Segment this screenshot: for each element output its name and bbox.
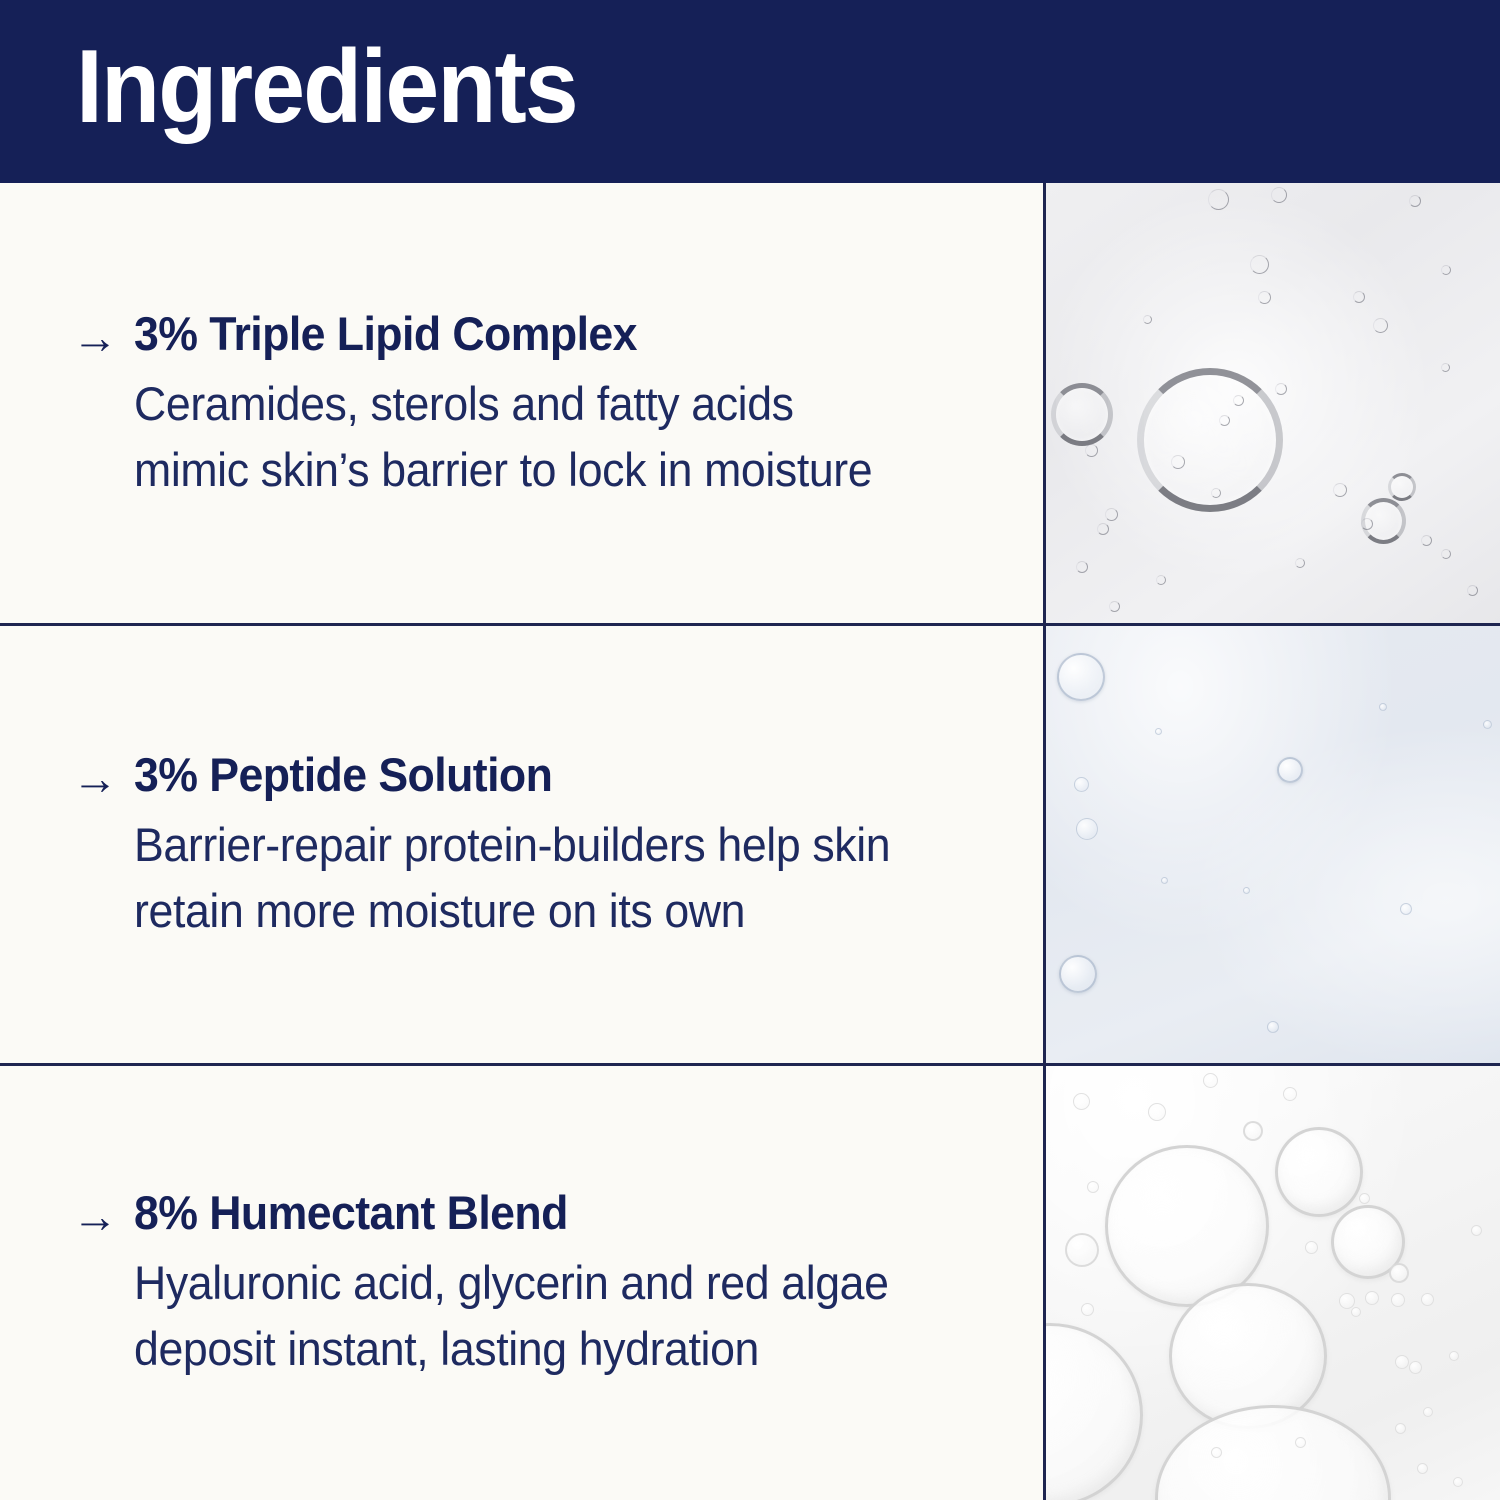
bubble-tiny xyxy=(1453,1477,1463,1487)
bubble-tiny xyxy=(1441,265,1451,275)
bubble-tiny xyxy=(1423,1407,1433,1417)
bubble-tiny xyxy=(1421,535,1432,546)
row-divider-1 xyxy=(0,623,1500,626)
bubble-tiny xyxy=(1219,415,1230,426)
ingredient-body-3: 8% Humectant Blend Hyaluronic acid, glyc… xyxy=(134,1184,1003,1382)
bubble-tiny xyxy=(1161,877,1168,884)
bubble-tiny xyxy=(1391,1293,1405,1307)
bubble-tiny xyxy=(1365,1291,1379,1305)
bubble-medium xyxy=(1059,955,1097,993)
bubble-tiny xyxy=(1211,1447,1222,1458)
bubble-tiny xyxy=(1076,561,1088,573)
bubble-tiny xyxy=(1295,1437,1306,1448)
bubble-tiny xyxy=(1171,455,1185,469)
bubble-tiny xyxy=(1483,720,1492,729)
arrow-right-icon: → xyxy=(72,1186,134,1246)
bubble-tiny xyxy=(1441,363,1450,372)
ingredient-row-3: → 8% Humectant Blend Hyaluronic acid, gl… xyxy=(0,1065,1500,1500)
bubble-small xyxy=(1076,818,1098,840)
bubble-medium xyxy=(1277,757,1303,783)
bubble-tiny xyxy=(1361,518,1373,530)
bubble-tiny xyxy=(1417,1463,1428,1474)
ingredient-title-3: 8% Humectant Blend xyxy=(134,1184,960,1242)
bubble-tiny xyxy=(1073,1093,1090,1110)
bubble-tiny xyxy=(1105,508,1118,521)
ingredient-text-cell-2: → 3% Peptide Solution Barrier-repair pro… xyxy=(0,625,1043,1065)
bubble-tiny xyxy=(1467,585,1478,596)
page-header: Ingredients xyxy=(0,0,1500,183)
bubble-large xyxy=(1043,1323,1143,1500)
bubble-tiny xyxy=(1156,575,1166,585)
bubble-tiny xyxy=(1333,483,1347,497)
bubble-tiny xyxy=(1305,1241,1318,1254)
ingredient-description-2: Barrier-repair protein-builders help ski… xyxy=(134,812,894,944)
bubble-small xyxy=(1388,473,1416,501)
ingredient-title-1: 3% Triple Lipid Complex xyxy=(134,305,960,363)
blue-gel-photo xyxy=(1043,625,1500,1065)
bubble-small xyxy=(1074,777,1089,792)
ingredients-infographic: Ingredients → 3% Triple Lipid Complex Ce… xyxy=(0,0,1500,1500)
bubble-tiny xyxy=(1395,1423,1406,1434)
ingredient-image-2 xyxy=(1043,625,1500,1065)
ingredient-item-1: → 3% Triple Lipid Complex Ceramides, ste… xyxy=(0,305,1043,503)
bubble-small xyxy=(1400,903,1412,915)
bubble-tiny xyxy=(1339,1293,1355,1309)
serum-bubbles-photo xyxy=(1043,183,1500,625)
bubble-medium xyxy=(1051,383,1113,446)
bubble-small xyxy=(1065,1233,1099,1267)
ingredient-row-1: → 3% Triple Lipid Complex Ceramides, ste… xyxy=(0,183,1500,625)
ingredient-item-2: → 3% Peptide Solution Barrier-repair pro… xyxy=(0,746,1043,944)
arrow-right-icon: → xyxy=(72,748,134,808)
bubble-large xyxy=(1137,368,1283,512)
bubble-small xyxy=(1389,1263,1409,1283)
bubble-tiny xyxy=(1081,1303,1094,1316)
ingredient-image-1 xyxy=(1043,183,1500,625)
bubble-tiny xyxy=(1250,255,1269,274)
ingredient-title-2: 3% Peptide Solution xyxy=(134,746,960,804)
column-divider xyxy=(1043,183,1046,1500)
bubble-tiny xyxy=(1087,1181,1099,1193)
bubble-small xyxy=(1243,1121,1263,1141)
bubble-tiny xyxy=(1421,1293,1434,1306)
bubble-tiny xyxy=(1203,1073,1218,1088)
ingredient-image-3 xyxy=(1043,1065,1500,1500)
bubble-tiny xyxy=(1271,187,1287,203)
arrow-right-icon: → xyxy=(72,307,134,367)
ingredient-text-cell-1: → 3% Triple Lipid Complex Ceramides, ste… xyxy=(0,183,1043,625)
bubble-tiny xyxy=(1208,189,1229,210)
ingredient-row-2: → 3% Peptide Solution Barrier-repair pro… xyxy=(0,625,1500,1065)
bubble-tiny xyxy=(1295,558,1305,568)
clear-bubbles-photo xyxy=(1043,1065,1500,1500)
bubble-large xyxy=(1155,1405,1391,1500)
bubble-tiny xyxy=(1085,444,1098,457)
bubble-tiny xyxy=(1373,318,1388,333)
ingredient-item-3: → 8% Humectant Blend Hyaluronic acid, gl… xyxy=(0,1184,1043,1382)
bubble-tiny xyxy=(1233,395,1244,406)
bubble-large xyxy=(1275,1127,1363,1217)
bubble-tiny xyxy=(1143,315,1152,324)
page-title: Ingredients xyxy=(76,23,577,151)
ingredient-description-1: Ceramides, sterols and fatty acids mimic… xyxy=(134,371,894,503)
bubble-tiny xyxy=(1441,549,1451,559)
bubble-tiny xyxy=(1243,887,1250,894)
bubble-tiny xyxy=(1449,1351,1459,1361)
bubble-tiny xyxy=(1109,601,1120,612)
ingredient-body-1: 3% Triple Lipid Complex Ceramides, stero… xyxy=(134,305,1003,503)
bubble-tiny xyxy=(1258,291,1271,304)
bubble-tiny xyxy=(1409,195,1421,207)
bubble-tiny xyxy=(1155,728,1162,735)
ingredient-description-3: Hyaluronic acid, glycerin and red algae … xyxy=(134,1250,894,1382)
ingredient-body-2: 3% Peptide Solution Barrier-repair prote… xyxy=(134,746,1003,944)
bubble-tiny xyxy=(1351,1307,1361,1317)
ingredient-text-cell-3: → 8% Humectant Blend Hyaluronic acid, gl… xyxy=(0,1065,1043,1500)
bubble-small xyxy=(1267,1021,1279,1033)
bubble-tiny xyxy=(1283,1087,1297,1101)
bubble-tiny xyxy=(1148,1103,1166,1121)
bubble-large xyxy=(1057,653,1105,701)
bubble-tiny xyxy=(1353,291,1365,303)
bubble-tiny xyxy=(1097,523,1109,535)
row-divider-2 xyxy=(0,1063,1500,1066)
ingredients-grid: → 3% Triple Lipid Complex Ceramides, ste… xyxy=(0,183,1500,1500)
bubble-tiny xyxy=(1379,703,1387,711)
bubble-tiny xyxy=(1471,1225,1482,1236)
bubble-tiny xyxy=(1409,1361,1422,1374)
bubble-tiny xyxy=(1275,383,1287,395)
bubble-tiny xyxy=(1211,488,1221,498)
bubble-tiny xyxy=(1359,1193,1370,1204)
bubble-tiny xyxy=(1395,1355,1409,1369)
